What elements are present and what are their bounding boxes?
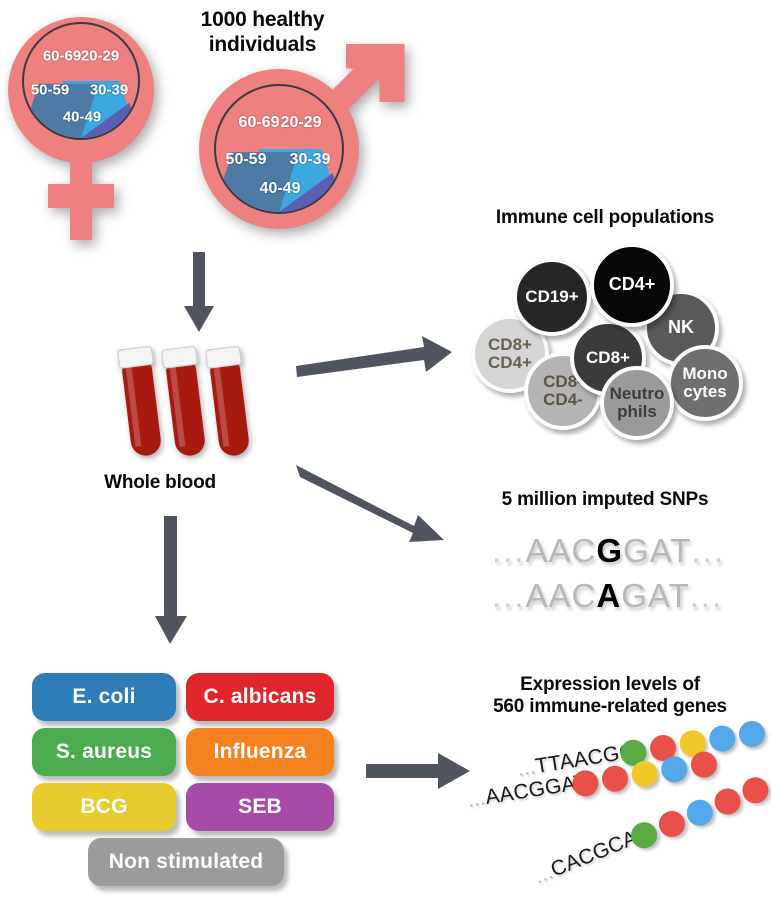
arrow-blood-to-stimulations: [150, 516, 194, 646]
snp-right: GAT: [623, 532, 691, 569]
arrow-blood-to-immune: [296, 330, 456, 380]
snp-variant: A: [596, 577, 621, 614]
snp-variant: G: [596, 532, 623, 569]
stimulation-pill-bcg[interactable]: BCG: [32, 783, 176, 831]
arrow-blood-to-snps: [296, 460, 456, 550]
stimulation-pill-e-coli[interactable]: E. coli: [32, 673, 176, 721]
gene-dot: [738, 773, 771, 807]
immune-cell-cd8: CD8+: [570, 320, 646, 396]
gene-dot: [655, 807, 689, 841]
arrow-stimulations-to-expression: [366, 752, 474, 794]
pie-label-30-39: 30-39: [290, 151, 331, 169]
blood-tube-1: [118, 346, 165, 457]
female-age-pie: 20-29 30-39 40-49 50-59 60-69: [22, 22, 140, 140]
pie-label-20-29: 20-29: [81, 48, 119, 65]
immune-cell-cd4: CD4+: [590, 243, 674, 327]
pie-slice-40-49: [228, 212, 333, 214]
section-title-snps: 5 million imputed SNPs: [455, 489, 755, 511]
snp-left: AAC: [526, 577, 597, 614]
snp-suffix: ...: [691, 532, 725, 569]
snp-prefix: ...: [492, 532, 526, 569]
immune-cell-monocytes: Mono cytes: [667, 345, 743, 421]
blood-tubes: [112, 338, 272, 466]
snp-suffix: ...: [690, 577, 724, 614]
pie-label-50-59: 50-59: [31, 82, 69, 99]
gene-dot: [707, 724, 737, 754]
label-whole-blood: Whole blood: [70, 472, 250, 494]
section-title-expression: Expression levels of 560 immune-related …: [455, 674, 765, 719]
pie-label-40-49: 40-49: [260, 180, 301, 198]
snp-sequence-row-2: ...AACAGAT...: [492, 577, 723, 615]
pie-label-40-49: 40-49: [63, 109, 101, 126]
snp-sequence-row-1: ...AACGGAT...: [492, 532, 725, 570]
snp-left: AAC: [526, 532, 597, 569]
immune-cell-neutrophils: Neutro phils: [600, 366, 674, 440]
immune-cell-cd8p-cd4p: CD8+ CD4+: [471, 315, 549, 393]
section-title-immune-cells: Immune cell populations: [455, 207, 755, 229]
blood-tube-2: [162, 346, 209, 457]
stimulation-pill-non-stimulated[interactable]: Non stimulated: [88, 838, 284, 886]
pie-label-20-29: 20-29: [281, 114, 322, 132]
pie-label-30-39: 30-39: [90, 82, 128, 99]
diagram-canvas: 1000 healthy individuals 20-29 30-39 40-…: [0, 0, 771, 922]
immune-cell-cd8n-cd4n: CD8- CD4-: [524, 352, 602, 430]
stimulation-pill-c-albicans[interactable]: C. albicans: [186, 673, 334, 721]
immune-cell-cd19: CD19+: [513, 258, 591, 336]
pie-slice-40-49: [35, 138, 130, 140]
male-age-pie: 20-29 30-39 40-49 50-59 60-69: [214, 84, 344, 214]
gene-dot: [711, 785, 745, 819]
gene-dot: [683, 796, 717, 830]
snp-prefix: ...: [492, 577, 526, 614]
arrow-individuals-to-blood: [180, 252, 222, 334]
snp-right: GAT: [621, 577, 689, 614]
stimulation-pill-seb[interactable]: SEB: [186, 783, 334, 831]
gene-dot: [737, 719, 767, 749]
stimulation-pill-influenza[interactable]: Influenza: [186, 728, 334, 776]
pie-label-60-69: 60-69: [239, 114, 280, 132]
immune-cell-nk: NK: [643, 290, 719, 366]
pie-label-60-69: 60-69: [43, 48, 81, 65]
blood-tube-3: [206, 346, 253, 457]
pie-label-50-59: 50-59: [226, 151, 267, 169]
stimulation-pill-s-aureus[interactable]: S. aureus: [32, 728, 176, 776]
